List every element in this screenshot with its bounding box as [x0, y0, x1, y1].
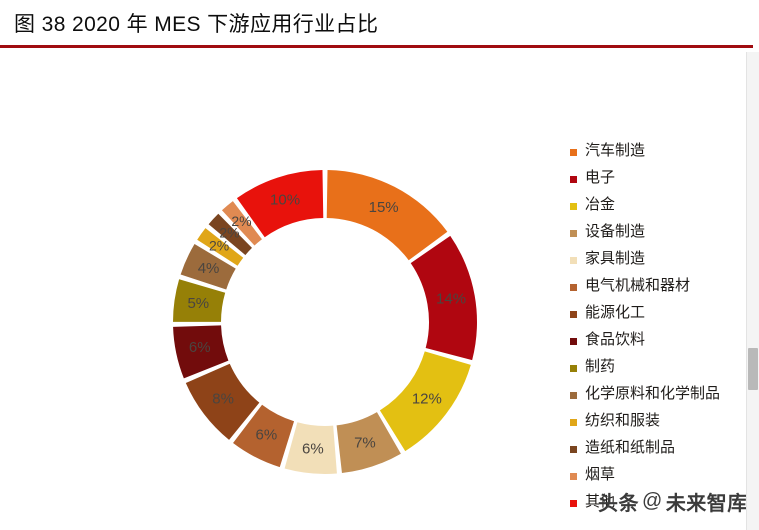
donut-chart-svg: 15%14%12%7%6%6%8%6%5%4%2%2%2%10% — [165, 152, 485, 492]
legend-item-label: 化学原料和化学制品 — [585, 381, 720, 408]
donut-slice-value-label: 14% — [436, 291, 466, 308]
legend-swatch-icon — [570, 176, 577, 183]
vertical-scrollbar-thumb[interactable] — [748, 348, 758, 390]
legend-item-label: 能源化工 — [585, 300, 645, 327]
donut-slice-value-label: 12% — [412, 390, 442, 407]
legend-swatch-icon — [570, 149, 577, 156]
legend-swatch-icon — [570, 311, 577, 318]
legend-swatch-icon — [570, 230, 577, 237]
legend-swatch-icon — [570, 284, 577, 291]
legend-item-label: 冶金 — [585, 192, 615, 219]
donut-slice-value-label: 2% — [231, 213, 251, 229]
donut-slice-value-label: 10% — [270, 191, 300, 208]
legend-item[interactable]: 纺织和服装 — [570, 408, 759, 435]
legend-swatch-icon — [570, 338, 577, 345]
legend-item-label: 家具制造 — [585, 246, 645, 273]
watermark: 头条 @ 未来智库 — [598, 487, 748, 516]
donut-chart: 15%14%12%7%6%6%8%6%5%4%2%2%2%10% — [165, 152, 485, 492]
donut-slice-value-label: 7% — [354, 435, 376, 452]
donut-slice-value-label: 6% — [256, 427, 278, 444]
legend-swatch-icon — [570, 392, 577, 399]
figure-title-bar: 图 38 2020 年 MES 下游应用行业占比 — [0, 0, 759, 46]
page-title: 图 38 2020 年 MES 下游应用行业占比 — [14, 8, 378, 38]
legend-item[interactable]: 设备制造 — [570, 219, 759, 246]
donut-slice-value-label: 5% — [187, 295, 209, 312]
legend-item-label: 烟草 — [585, 462, 615, 489]
legend-swatch-icon — [570, 365, 577, 372]
legend-item-label: 电子 — [585, 165, 615, 192]
title-divider — [0, 45, 753, 48]
donut-slice-value-label: 6% — [302, 440, 324, 457]
legend-item-label: 造纸和纸制品 — [585, 435, 675, 462]
vertical-scrollbar-track[interactable] — [746, 52, 759, 530]
legend-item-label: 设备制造 — [585, 219, 645, 246]
legend-swatch-icon — [570, 419, 577, 426]
chart-area: 15%14%12%7%6%6%8%6%5%4%2%2%2%10% — [0, 52, 565, 530]
legend-item[interactable]: 汽车制造 — [570, 138, 759, 165]
legend-item[interactable]: 电气机械和器材 — [570, 273, 759, 300]
legend-item[interactable]: 制药 — [570, 354, 759, 381]
legend-item-label: 汽车制造 — [585, 138, 645, 165]
legend-swatch-icon — [570, 257, 577, 264]
legend-item-label: 纺织和服装 — [585, 408, 660, 435]
legend-swatch-icon — [570, 203, 577, 210]
chart-legend: 汽车制造电子冶金设备制造家具制造电气机械和器材能源化工食品饮料制药化学原料和化学… — [570, 138, 759, 516]
legend-swatch-icon — [570, 446, 577, 453]
donut-slice-value-label: 15% — [369, 199, 399, 216]
donut-slice-value-label: 4% — [198, 260, 220, 277]
watermark-platform: 头条 — [598, 487, 639, 516]
legend-item[interactable]: 冶金 — [570, 192, 759, 219]
legend-item[interactable]: 造纸和纸制品 — [570, 435, 759, 462]
donut-slices — [173, 170, 477, 474]
legend-item[interactable]: 家具制造 — [570, 246, 759, 273]
legend-item[interactable]: 电子 — [570, 165, 759, 192]
legend-item[interactable]: 食品饮料 — [570, 327, 759, 354]
donut-slice-value-label: 8% — [212, 390, 234, 407]
legend-item-label: 电气机械和器材 — [585, 273, 690, 300]
watermark-source: 未来智库 — [666, 487, 748, 516]
legend-item[interactable]: 烟草 — [570, 462, 759, 489]
legend-swatch-icon — [570, 473, 577, 480]
legend-swatch-icon — [570, 500, 577, 507]
watermark-at-symbol: @ — [642, 490, 663, 513]
donut-slice-value-label: 6% — [189, 339, 211, 356]
legend-item-label: 制药 — [585, 354, 615, 381]
legend-item[interactable]: 化学原料和化学制品 — [570, 381, 759, 408]
legend-item-label: 食品饮料 — [585, 327, 645, 354]
legend-item[interactable]: 能源化工 — [570, 300, 759, 327]
